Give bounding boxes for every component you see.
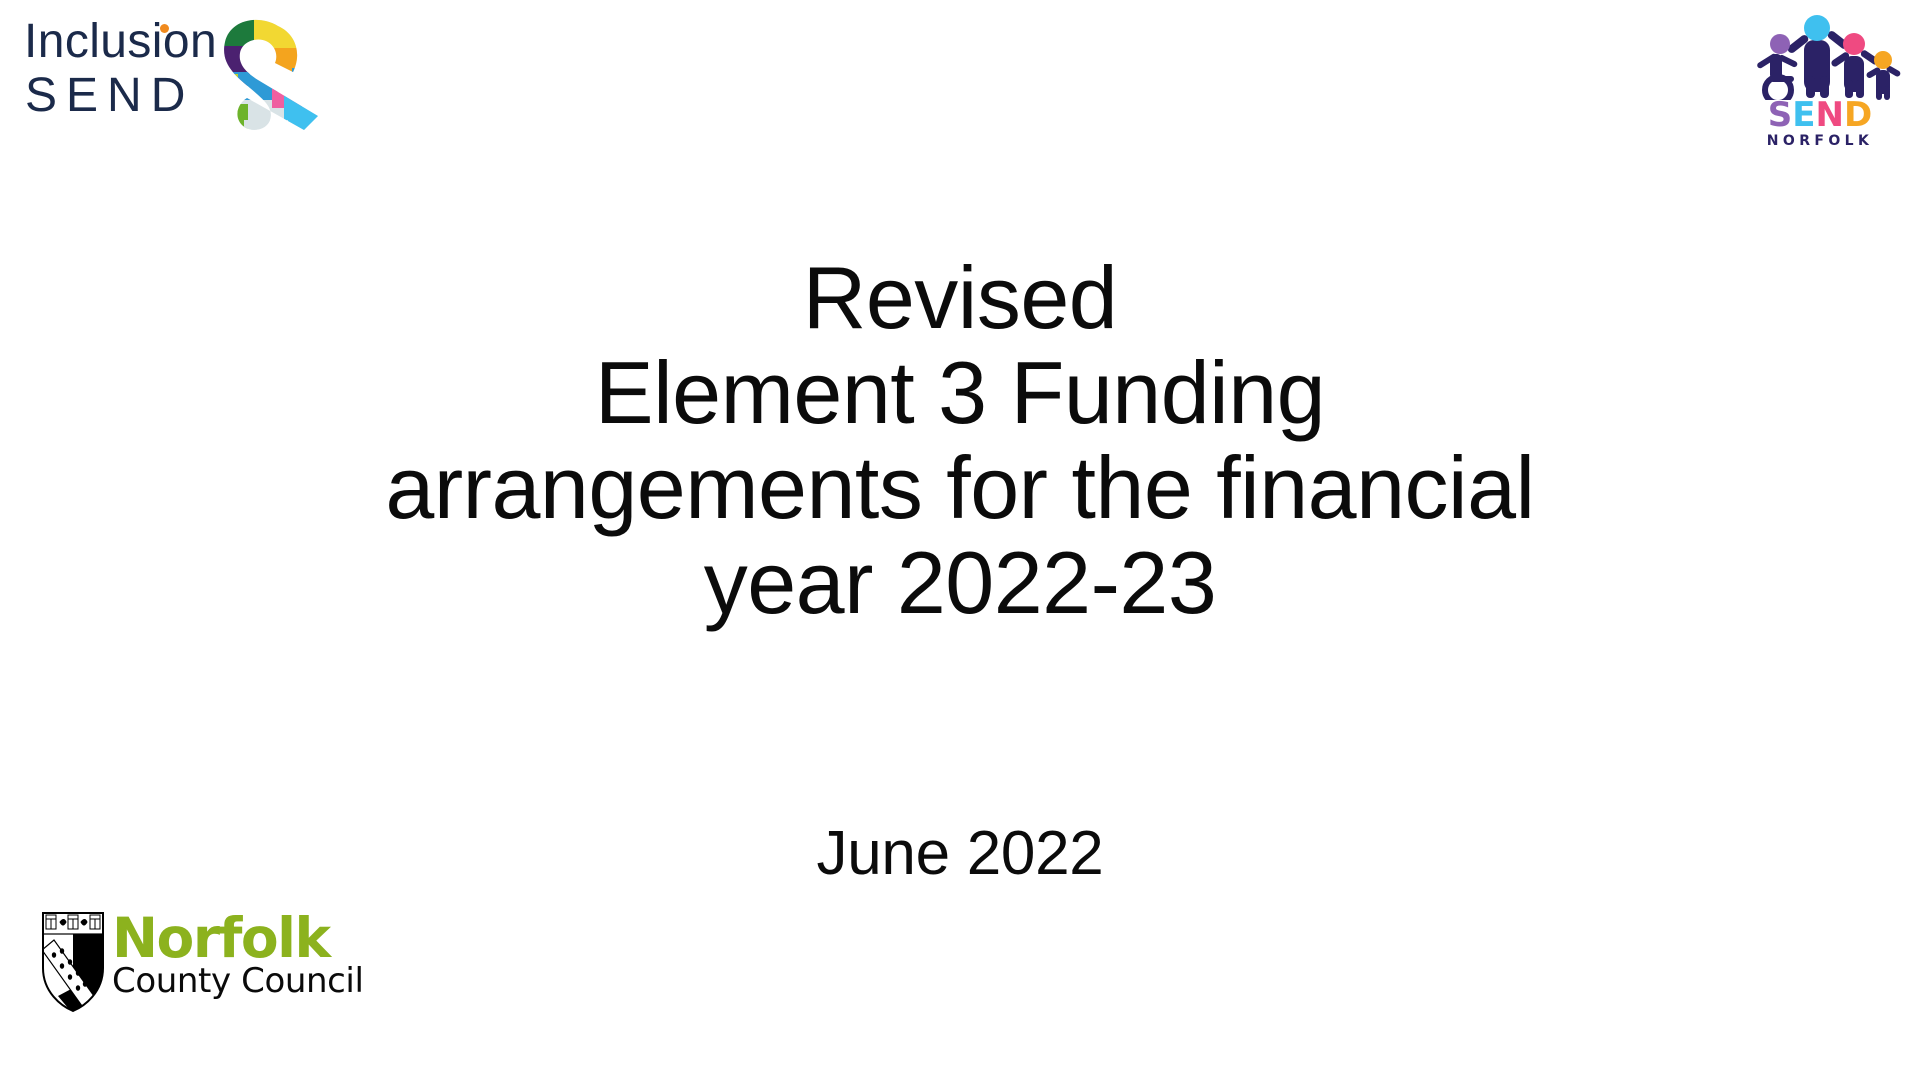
inclusion-i-dot-icon xyxy=(160,24,169,33)
presentation-slide: Inclusion SEND xyxy=(0,0,1920,1080)
send-letter-n: N xyxy=(1816,95,1844,135)
inclusion-wordmark-text: Inclusion xyxy=(24,18,217,66)
title-line-3: arrangements for the financial xyxy=(160,440,1760,535)
ncc-norfolk-text: Norfolk xyxy=(112,912,364,966)
send-norfolk-logo: SEND NORFOLK xyxy=(1734,14,1906,160)
ncc-county-council-text: County Council xyxy=(112,964,364,1000)
title-line-2: Element 3 Funding xyxy=(160,345,1760,440)
send-norfolk-people-icon xyxy=(1742,14,1902,100)
norfolk-county-council-logo: Norfolk County Council xyxy=(40,908,350,1020)
send-letter-s: S xyxy=(1768,95,1793,135)
norfolk-county-council-wordmark: Norfolk County Council xyxy=(112,912,364,1000)
inclusion-and-send-logo: Inclusion SEND xyxy=(14,12,334,140)
send-norfolk-wordmark: SEND xyxy=(1734,98,1906,132)
slide-title: Revised Element 3 Funding arrangements f… xyxy=(160,250,1760,630)
send-norfolk-subtext: NORFOLK xyxy=(1734,134,1906,148)
title-line-1: Revised xyxy=(160,250,1760,345)
send-letter-e: E xyxy=(1792,95,1815,135)
title-line-4: year 2022-23 xyxy=(160,535,1760,630)
slide-subtitle: June 2022 xyxy=(160,820,1760,888)
send-letter-d: D xyxy=(1844,95,1872,135)
colorful-ampersand-icon xyxy=(192,12,322,140)
send-wordmark-text: SEND xyxy=(25,72,194,120)
subtitle-date: June 2022 xyxy=(160,820,1760,888)
norfolk-crest-shield-icon xyxy=(40,910,106,1014)
